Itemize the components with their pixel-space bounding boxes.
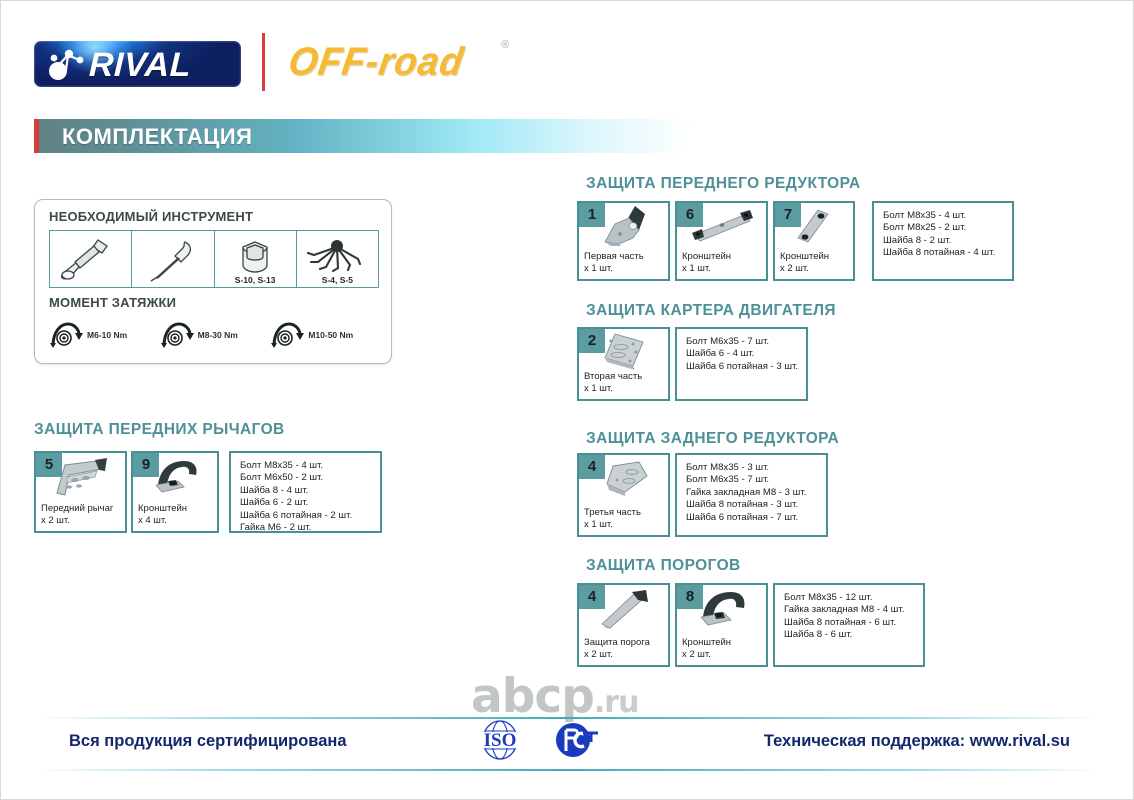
part-card-6: 6 Кронштейн x 1 шт. [675,201,768,281]
hardware-item: Болт M8x25 - 2 шт. [883,222,1003,234]
page-title-banner: КОМПЛЕКТАЦИЯ [34,119,694,153]
front-arm-plate-icon [36,455,125,500]
hardware-item: Гайка закладная M8 - 3 шт. [686,487,817,499]
torque-item-m8: M8-30 Nm [160,321,271,349]
title-accent-bar [34,119,39,153]
hardware-item: Шайба 6 - 2 шт. [240,497,371,509]
part-caption-2: Вторая часть x 1 шт. [584,371,665,395]
hardware-item: Шайба 6 - 4 шт. [686,348,797,360]
part-card-1: 1 Первая часть x 1 шт. [577,201,670,281]
registered-mark: ® [501,39,509,51]
hardware-item: Шайба 8 - 6 шт. [784,629,914,641]
required-tools-title: НЕОБХОДИМЫЙ ИНСТРУМЕНТ [49,209,253,224]
torque-arrow-icon [49,321,83,349]
hardware-item: Гайка закладная M8 - 4 шт. [784,604,914,616]
bracket-hook-icon [677,587,766,633]
hardware-list-front-diff: Болт M8x35 - 4 шт. Болт M8x25 - 2 шт. Ша… [872,201,1014,281]
first-part-plate-icon [579,205,668,249]
part-caption-7: Кронштейн x 2 шт. [780,251,850,275]
part-card-4-rear: 4 Третья часть x 1 шт. [577,453,670,537]
hardware-item: Болт M8x35 - 4 шт. [883,210,1003,222]
section-title-sills: ЗАЩИТА ПОРОГОВ [586,557,741,575]
watermark: abcp.ru [471,669,638,724]
page-title: КОМПЛЕКТАЦИЯ [62,124,252,150]
watermark-suffix: .ru [594,685,639,720]
hardware-list-rear-diff: Болт M8x35 - 3 шт. Болт M6x35 - 7 шт. Га… [675,453,828,537]
hardware-list-sills: Болт M8x35 - 12 шт. Гайка закладная M8 -… [773,583,925,667]
hardware-item: Болт M6x50 - 2 шт. [240,472,371,484]
hardware-item: Шайба 8 потайная - 4 шт. [883,247,1003,259]
bracket-bar-icon [677,205,766,249]
tool-cell-screwdriver [132,231,214,287]
hardware-item: Шайба 6 потайная - 3 шт. [686,361,797,373]
header-divider [262,33,265,91]
torque-item-m6: M6-10 Nm [49,321,160,349]
hardware-item: Шайба 6 потайная - 2 шт. [240,510,371,522]
part-caption-8: Кронштейн x 2 шт. [682,637,763,661]
page-header: RIVAL OFF-road ® [1,1,1134,101]
hardware-list-front-arms: Болт M8x35 - 4 шт. Болт M6x50 - 2 шт. Ша… [229,451,382,533]
hardware-item: Болт M8x35 - 12 шт. [784,592,914,604]
required-tools-box: НЕОБХОДИМЫЙ ИНСТРУМЕНТ [34,199,392,364]
hardware-item: Гайка M6 - 2 шт. [240,522,371,534]
iso-logo: ISO [471,720,529,760]
part-card-8: 8 Кронштейн x 2 шт. [675,583,768,667]
torque-item-m10: M10-50 Nm [270,321,381,349]
hardware-item: Шайба 8 - 2 шт. [883,235,1003,247]
second-part-plate-icon [579,331,668,372]
part-caption-4-rear: Третья часть x 1 шт. [584,507,665,531]
torque-label-m6: M6-10 Nm [87,330,127,340]
offroad-wordmark: OFF-road [285,40,467,85]
rst-logo [550,720,602,760]
tool-caption-hexkeys: S-4, S-5 [297,275,378,285]
section-title-front-diff: ЗАЩИТА ПЕРЕДНЕГО РЕДУКТОРА [586,175,861,193]
certification-text: Вся продукция сертифицирована [69,732,347,751]
rival-logo: RIVAL [34,41,241,87]
section-title-engine-crankcase: ЗАЩИТА КАРТЕРА ДВИГАТЕЛЯ [586,302,836,320]
part-card-2: 2 Вторая часть x 1 шт. [577,327,670,401]
tool-cell-hexkeys: S-4, S-5 [297,231,378,287]
part-caption-5: Передний рычаг x 2 шт. [41,503,122,527]
torque-row: M6-10 Nm M8-30 Nm [49,318,381,352]
hardware-item: Шайба 8 потайная - 6 шт. [784,617,914,629]
tool-caption-socket: S-10, S-13 [215,275,296,285]
tool-icon-row: S-10, S-13 S-4, S-5 [49,230,379,288]
screwdriver-icon [137,236,209,282]
hardware-item: Болт M6x35 - 7 шт. [686,474,817,486]
torque-arrow-icon [270,321,304,349]
watermark-text: abcp [471,669,594,724]
bracket-hook-icon [133,455,217,500]
rival-wordmark: RIVAL [88,46,191,85]
part-card-7: 7 Кронштейн x 2 шт. [773,201,855,281]
section-title-front-arms: ЗАЩИТА ПЕРЕДНИХ РЫЧАГОВ [34,421,285,439]
footer-divider-top [34,717,1102,719]
section-title-rear-diff: ЗАЩИТА ЗАДНЕГО РЕДУКТОРА [586,430,839,448]
part-caption-9: Кронштейн x 4 шт. [138,503,214,527]
iso-logo-text: ISO [484,730,517,751]
part-card-4-sill: 4 Защита порога x 2 шт. [577,583,670,667]
part-card-5: 5 Передний рычаг x 2 шт. [34,451,127,533]
part-card-9: 9 Кронштейн x 4 шт. [131,451,219,533]
part-caption-1: Первая часть x 1 шт. [584,251,665,275]
part-caption-6: Кронштейн x 1 шт. [682,251,763,275]
hardware-list-engine-crankcase: Болт M6x35 - 7 шт. Шайба 6 - 4 шт. Шайба… [675,327,808,401]
tech-support-text: Техническая поддержка: www.rival.su [764,732,1070,751]
third-part-plate-icon [579,457,668,503]
hardware-item: Болт M6x35 - 7 шт. [686,336,797,348]
sill-guard-icon [579,587,668,633]
torque-arrow-icon [160,321,194,349]
ratchet-wrench-icon [55,236,127,282]
tool-cell-socket: S-10, S-13 [215,231,297,287]
footer-divider-bottom [34,769,1102,771]
hardware-item: Шайба 6 потайная - 7 шт. [686,512,817,524]
hardware-item: Болт M8x35 - 4 шт. [240,460,371,472]
hardware-item: Болт M8x35 - 3 шт. [686,462,817,474]
bracket-strip-icon [775,205,853,249]
part-caption-4-sill: Защита порога x 2 шт. [584,637,665,661]
hardware-item: Шайба 8 - 4 шт. [240,485,371,497]
molecule-icon [44,46,88,82]
torque-title: МОМЕНТ ЗАТЯЖКИ [49,295,176,310]
torque-label-m10: M10-50 Nm [308,330,353,340]
torque-label-m8: M8-30 Nm [198,330,238,340]
hardware-item: Шайба 8 потайная - 3 шт. [686,499,817,511]
tool-cell-ratchet [50,231,132,287]
catalog-page: RIVAL OFF-road ® КОМПЛЕКТАЦИЯ НЕОБХОДИМЫ… [0,0,1134,800]
